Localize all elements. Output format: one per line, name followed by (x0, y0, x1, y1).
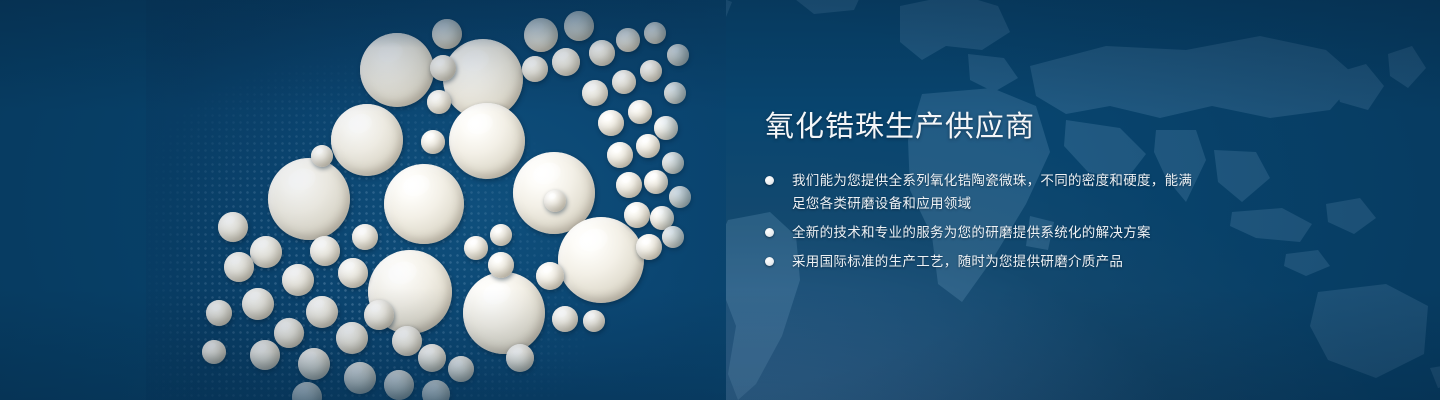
feature-text: 我们能为您提供全系列氧化锆陶瓷微珠，不同的密度和硬度，能满足您各类研磨设备和应用… (792, 173, 1192, 211)
feature-text: 全新的技术和专业的服务为您的研磨提供系统化的解决方案 (792, 225, 1151, 240)
bullet-dot-icon (765, 228, 774, 237)
hero-banner: 氧化锆珠生产供应商 我们能为您提供全系列氧化锆陶瓷微珠，不同的密度和硬度，能满足… (0, 0, 1440, 400)
list-item: 全新的技术和专业的服务为您的研磨提供系统化的解决方案 (765, 221, 1205, 244)
feature-text: 采用国际标准的生产工艺，随时为您提供研磨介质产品 (792, 254, 1123, 269)
bullet-dot-icon (765, 257, 774, 266)
page-title: 氧化锆珠生产供应商 (765, 108, 1205, 147)
list-item: 我们能为您提供全系列氧化锆陶瓷微珠，不同的密度和硬度，能满足您各类研磨设备和应用… (765, 169, 1205, 215)
bullet-dot-icon (765, 176, 774, 185)
background-vignette (0, 0, 1440, 400)
list-item: 采用国际标准的生产工艺，随时为您提供研磨介质产品 (765, 250, 1205, 273)
banner-copy: 氧化锆珠生产供应商 我们能为您提供全系列氧化锆陶瓷微珠，不同的密度和硬度，能满足… (765, 108, 1205, 273)
feature-list: 我们能为您提供全系列氧化锆陶瓷微珠，不同的密度和硬度，能满足您各类研磨设备和应用… (765, 169, 1205, 273)
